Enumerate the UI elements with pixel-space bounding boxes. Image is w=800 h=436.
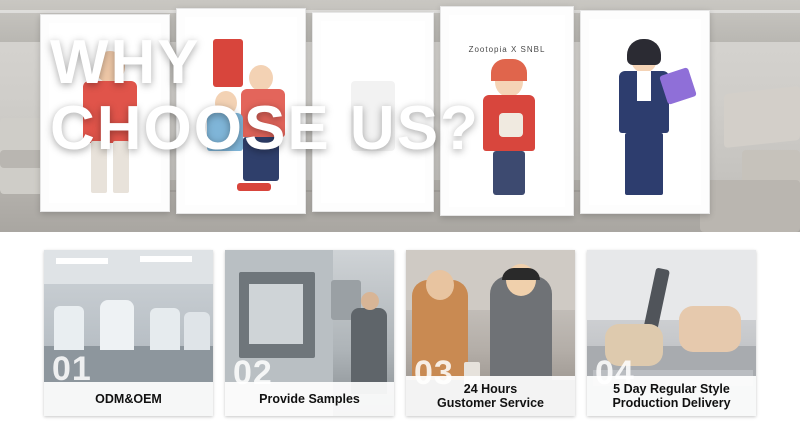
feature-caption: ODM&OEM xyxy=(44,382,213,416)
feature-caption-line-2: Production Delivery xyxy=(612,396,730,410)
headline-line-1: WHY xyxy=(50,28,201,97)
feature-caption-text: 24 Hours Gustomer Service xyxy=(437,382,544,410)
photo-agent-one-head xyxy=(426,270,454,300)
photo-light-fixture xyxy=(56,258,108,264)
headline-line-2: CHOOSE US? xyxy=(50,96,750,162)
photo-hand-right xyxy=(679,306,741,352)
feature-caption-text: Provide Samples xyxy=(259,392,360,406)
photo-machine-interior xyxy=(249,284,303,344)
feature-card[interactable]: 04 5 Day Regular Style Production Delive… xyxy=(587,250,756,416)
figure-shoes xyxy=(237,183,271,191)
feature-caption: 24 Hours Gustomer Service xyxy=(406,376,575,416)
feature-strip: 01 ODM&OEM 02 Provide Samples xyxy=(0,232,800,436)
feature-caption: 5 Day Regular Style Production Delivery xyxy=(587,376,756,416)
feature-card[interactable]: 03 24 Hours Gustomer Service xyxy=(406,250,575,416)
feature-card-list: 01 ODM&OEM 02 Provide Samples xyxy=(44,250,756,416)
feature-caption: Provide Samples xyxy=(225,382,394,416)
photo-operator-head xyxy=(361,292,379,310)
photo-worker xyxy=(100,300,134,350)
photo-worker xyxy=(150,308,180,350)
feature-caption-line-1: 24 Hours xyxy=(464,382,518,396)
feature-caption-line-2: Gustomer Service xyxy=(437,396,544,410)
headset-icon xyxy=(502,268,540,280)
promo-banner: Zootopia X SNBL xyxy=(0,0,800,436)
feature-caption-line-1: 5 Day Regular Style xyxy=(613,382,730,396)
feature-caption-text: 5 Day Regular Style Production Delivery xyxy=(612,382,730,410)
feature-card[interactable]: 02 Provide Samples xyxy=(225,250,394,416)
feature-caption-text: ODM&OEM xyxy=(95,392,162,406)
feature-number: 01 xyxy=(52,352,92,386)
hero-image: Zootopia X SNBL xyxy=(0,0,800,232)
photo-worker xyxy=(184,312,210,350)
photo-worker xyxy=(54,306,84,350)
hero-headline: WHY CHOOSE US? xyxy=(50,30,750,162)
photo-light-fixture xyxy=(140,256,192,262)
feature-card[interactable]: 01 ODM&OEM xyxy=(44,250,213,416)
